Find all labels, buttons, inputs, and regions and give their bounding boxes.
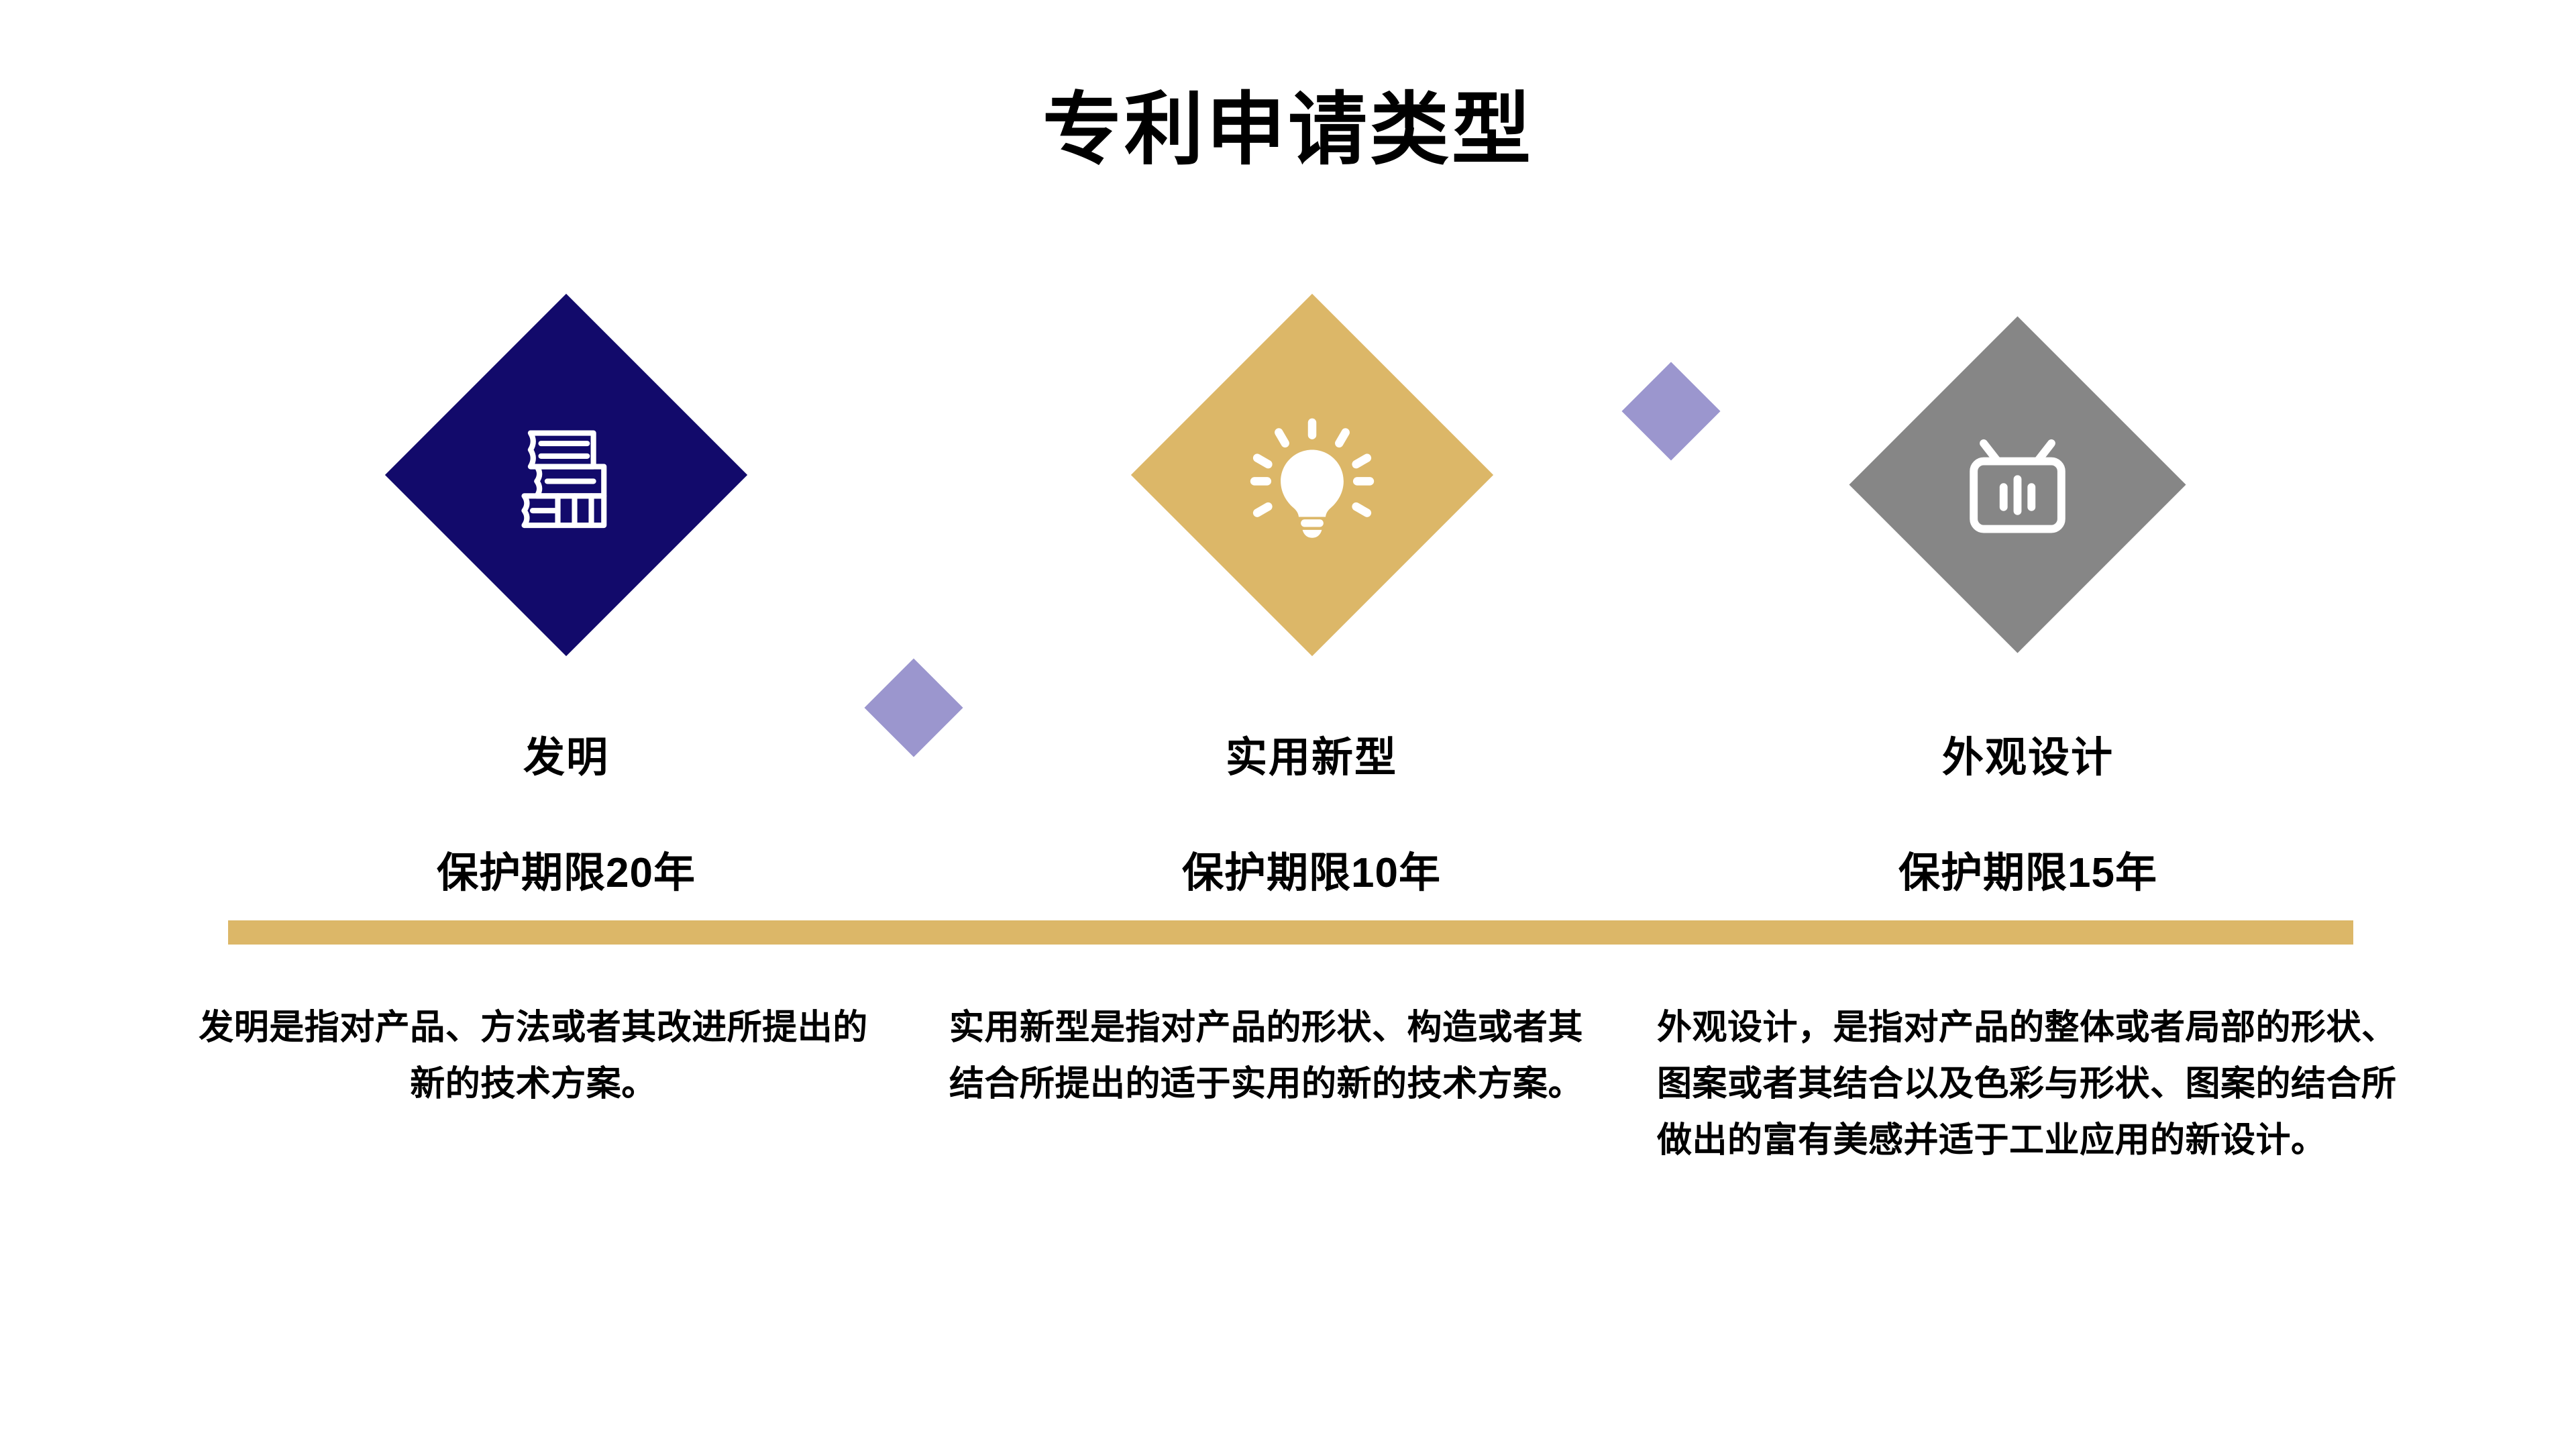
column-description-design: 外观设计，是指对产品的整体或者局部的形状、图案或者其结合以及色彩与形状、图案的结… — [1657, 1000, 2408, 1169]
accent-diamond-2 — [1621, 362, 1720, 460]
column-description-utility-model: 实用新型是指对产品的形状、构造或者其结合所提出的适于实用的新的技术方案。 — [949, 1000, 1593, 1112]
diamond-card-invention[interactable] — [385, 294, 747, 656]
diamond-card-utility-model[interactable] — [1131, 294, 1493, 656]
tv-chart-icon — [1954, 421, 2082, 549]
books-stack-icon — [499, 408, 633, 542]
column-term-invention: 保护期限20年 — [264, 839, 868, 899]
column-term-design: 保护期限15年 — [1726, 839, 2330, 899]
accent-diamond-1 — [864, 658, 963, 757]
column-name-invention: 发明 — [264, 723, 868, 784]
column-name-design: 外观设计 — [1726, 723, 2330, 784]
gold-rule-divider — [228, 920, 2353, 945]
diamond-card-design[interactable] — [1849, 316, 2186, 653]
column-name-utility-model: 实用新型 — [1010, 723, 1613, 784]
column-term-utility-model: 保护期限10年 — [1010, 839, 1613, 899]
column-description-invention: 发明是指对产品、方法或者其改进所提出的新的技术方案。 — [188, 1000, 879, 1112]
slide-canvas: 专利申请类型 — [0, 0, 2576, 1449]
lightbulb-icon — [1245, 408, 1379, 542]
page-title: 专利申请类型 — [0, 87, 2576, 174]
